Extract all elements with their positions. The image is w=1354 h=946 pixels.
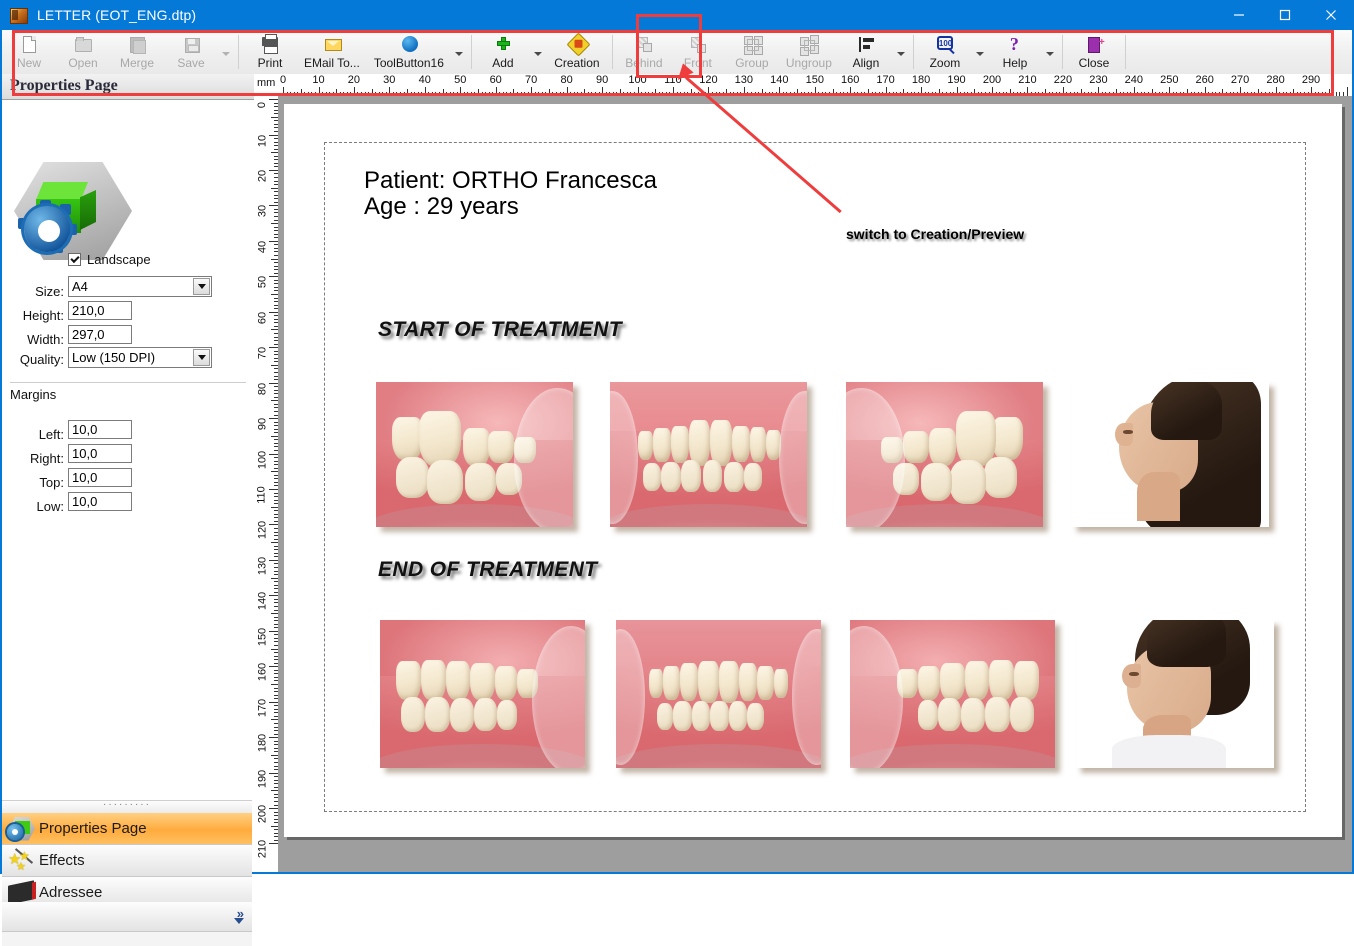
photo-right-lateral-intraoral-after[interactable] [380, 620, 585, 768]
ruler-tick [269, 702, 278, 703]
width-input[interactable]: 297,0 [68, 325, 132, 344]
margin-top-input[interactable]: 10,0 [68, 468, 132, 487]
ruler-label: 10 [256, 134, 268, 146]
ruler-label: 50 [256, 276, 268, 288]
margin-low-label: Low: [2, 499, 64, 514]
ruler-label: 100 [256, 450, 268, 468]
quality-value: Low (150 DPI) [72, 350, 155, 365]
ruler-tick [269, 135, 278, 136]
width-label: Width: [2, 332, 64, 347]
ruler-tick [1347, 87, 1348, 96]
patient-line-2: Age : 29 years [364, 194, 657, 220]
ruler-label: 130 [256, 557, 268, 575]
ruler-tick [271, 613, 278, 614]
sidebar-item-effects[interactable]: ★ ★ ★ Effects [2, 845, 252, 877]
ruler-tick [271, 152, 278, 153]
ruler-tick [271, 684, 278, 685]
photo-profile-portrait-after[interactable] [1076, 620, 1274, 768]
window-title: LETTER (EOT_ENG.dtp) [37, 7, 196, 23]
document-canvas[interactable]: Patient: ORTHO Francesca Age : 29 years … [278, 96, 1352, 872]
ruler-label: 200 [256, 805, 268, 823]
quality-label: Quality: [2, 352, 64, 367]
maximize-icon[interactable] [1262, 0, 1308, 30]
margin-low-input[interactable]: 10,0 [68, 492, 132, 511]
margin-left-input[interactable]: 10,0 [68, 420, 132, 439]
width-value: 297,0 [72, 327, 105, 342]
ruler-label: 110 [256, 486, 268, 504]
ruler-tick [269, 737, 278, 738]
ruler-tick [269, 524, 278, 525]
ruler-tick [271, 259, 278, 260]
size-label: Size: [2, 284, 64, 299]
margin-right-value: 10,0 [72, 446, 97, 461]
ruler-tick [271, 223, 278, 224]
ruler-tick [271, 755, 278, 756]
size-value: A4 [72, 279, 88, 294]
green-cube-gear-icon [5, 815, 39, 843]
properties-panel: Properties Page Landscape Size: A4 Heigh… [2, 74, 255, 872]
ruler-tick [271, 790, 278, 791]
ruler-label: 120 [256, 521, 268, 539]
magic-stars-icon: ★ ★ ★ [5, 847, 39, 875]
photo-left-lateral-intraoral-before[interactable] [846, 382, 1043, 527]
section-heading-start: START OF TREATMENT [378, 318, 622, 342]
ruler-tick [271, 719, 278, 720]
ruler-label: 150 [256, 628, 268, 646]
ruler-tick [269, 560, 278, 561]
size-select[interactable]: A4 [68, 276, 212, 297]
ruler-label: 210 [256, 840, 268, 858]
ruler-tick [269, 418, 278, 419]
divider [10, 382, 246, 383]
sidebar-item-properties-page[interactable]: Properties Page [2, 813, 252, 845]
ruler-tick [271, 365, 278, 366]
ruler-tick [269, 595, 278, 596]
ruler-tick [269, 99, 278, 100]
close-icon[interactable] [1308, 0, 1354, 30]
page-sheet[interactable]: Patient: ORTHO Francesca Age : 29 years … [284, 104, 1342, 837]
ruler-tick [269, 347, 278, 348]
margin-top-value: 10,0 [72, 470, 97, 485]
ruler-tick [269, 843, 278, 844]
ruler-tick [271, 188, 278, 189]
ruler-tick [271, 578, 278, 579]
ruler-label: 70 [256, 347, 268, 359]
application-window: LETTER (EOT_ENG.dtp) New Open Merge [0, 0, 1354, 874]
ruler-tick [271, 471, 278, 472]
ruler-label: 190 [256, 769, 268, 787]
callout-text: switch to Creation/Preview [846, 226, 1024, 242]
ruler-label: 20 [256, 170, 268, 182]
green-cube-gear-icon [14, 162, 136, 262]
minimize-icon[interactable] [1216, 0, 1262, 30]
section-heading-end: END OF TREATMENT [378, 558, 598, 582]
ruler-label: 170 [256, 698, 268, 716]
ruler-tick [269, 808, 278, 809]
ruler-label: 80 [256, 382, 268, 394]
ruler-tick [271, 542, 278, 543]
chevron-down-icon[interactable] [193, 278, 210, 295]
vertical-ruler[interactable]: 0102030405060708090100110120130140150160… [254, 96, 279, 872]
ruler-tick [271, 507, 278, 508]
nav-overflow-button[interactable]: » [2, 902, 252, 932]
ruler-tick [271, 826, 278, 827]
ruler-label: 180 [256, 734, 268, 752]
height-label: Height: [2, 308, 64, 323]
ruler-label: 0 [256, 102, 268, 108]
ruler-tick [269, 205, 278, 206]
ruler-tick [269, 666, 278, 667]
ruler-tick [269, 312, 278, 313]
ruler-label: 90 [256, 418, 268, 430]
landscape-label: Landscape [87, 252, 151, 267]
height-input[interactable]: 210,0 [68, 301, 132, 320]
ruler-tick [269, 454, 278, 455]
ruler-tick [269, 773, 278, 774]
app-document-icon [10, 6, 28, 24]
margin-top-label: Top: [2, 475, 64, 490]
patient-line-1: Patient: ORTHO Francesca [364, 168, 657, 194]
margin-right-label: Right: [2, 451, 64, 466]
ruler-tick [269, 383, 278, 384]
sidebar-item-label: Adressee [39, 884, 102, 901]
photo-left-lateral-intraoral-after[interactable] [850, 620, 1055, 768]
ruler-tick [269, 631, 278, 632]
photo-frontal-intraoral-before[interactable] [610, 382, 807, 527]
photo-frontal-intraoral-after[interactable] [616, 620, 821, 768]
ruler-tick [269, 170, 278, 171]
margin-left-value: 10,0 [72, 422, 97, 437]
ruler-tick [271, 117, 278, 118]
margin-low-value: 10,0 [72, 494, 97, 509]
chevron-down-icon[interactable] [193, 349, 210, 366]
margins-title: Margins [10, 387, 56, 402]
landscape-checkbox[interactable] [68, 253, 81, 266]
ruler-tick [271, 436, 278, 437]
annotation-highlight-creation-button [636, 14, 702, 78]
sidebar-item-label: Effects [39, 852, 85, 869]
patient-name-text: Patient: ORTHO Francesca Age : 29 years [364, 168, 657, 220]
ruler-tick [271, 294, 278, 295]
ruler-tick [271, 649, 278, 650]
chevron-down-icon [234, 918, 244, 924]
ruler-label: 160 [256, 663, 268, 681]
ruler-tick [271, 400, 278, 401]
sidebar-item-label: Properties Page [39, 820, 147, 837]
ruler-label: 40 [256, 241, 268, 253]
ruler-tick [269, 241, 278, 242]
ruler-label: 30 [256, 205, 268, 217]
quality-select[interactable]: Low (150 DPI) [68, 347, 212, 368]
ruler-tick [269, 276, 278, 277]
photo-profile-portrait-before[interactable] [1072, 382, 1269, 527]
ruler-label: 140 [256, 592, 268, 610]
height-value: 210,0 [72, 303, 105, 318]
ruler-tick [271, 329, 278, 330]
panel-nav: ········· Properties Page ★ ★ ★ Effects [2, 800, 252, 946]
photo-right-lateral-intraoral-before[interactable] [376, 382, 573, 527]
ruler-label: 60 [256, 312, 268, 324]
margin-right-input[interactable]: 10,0 [68, 444, 132, 463]
margin-left-label: Left: [2, 427, 64, 442]
ruler-tick [269, 489, 278, 490]
